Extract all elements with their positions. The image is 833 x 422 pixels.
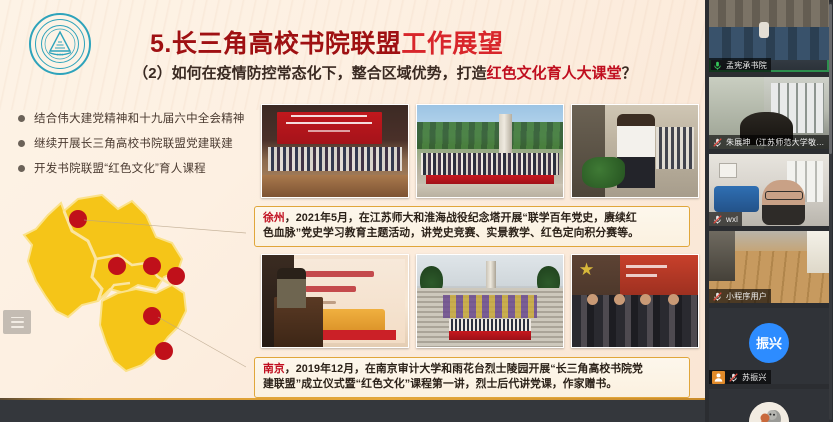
list-item: 继续开展长三角高校书院联盟党建联建 (18, 135, 258, 151)
participant-name: 孟宪承书院 (726, 60, 767, 71)
presentation-slide: 1951 5.长三角高校书院联盟工作展望 （2）如何在疫情防控常态化下，整合区域… (0, 0, 705, 400)
yangtze-river-delta-map (6, 185, 246, 385)
bullet-dot-icon (18, 115, 25, 122)
slide-menu-button[interactable] (3, 310, 31, 334)
photo-row-bottom (261, 254, 699, 348)
strip-scrollbar-thumb[interactable] (829, 4, 832, 154)
laying-flowers-photo (571, 104, 699, 198)
caption-city: 徐州 (263, 212, 285, 224)
memorial-steps-group-photo (416, 254, 564, 348)
list-item: 结合伟大建党精神和十九届六中全会精神 (18, 110, 258, 126)
university-emblem-icon: 1951 (29, 13, 91, 75)
participant-tile[interactable]: 小程序用户 (709, 231, 829, 303)
microphone-muted-icon (712, 291, 723, 302)
slide-bullet-list: 结合伟大建党精神和十九届六中全会精神 继续开展长三角高校书院联盟党建联建 开发书… (18, 110, 258, 185)
participant-namebar: 小程序用户 (709, 289, 771, 303)
shared-content-area: 1951 5.长三角高校书院联盟工作展望 （2）如何在疫情防控常态化下，整合区域… (0, 0, 705, 422)
host-icon (712, 371, 725, 384)
participant-namebar: 苏振兴 (709, 370, 771, 384)
participant-tile-host[interactable]: 振兴 苏振兴 (709, 308, 829, 384)
caption-city: 南京 (263, 363, 285, 375)
slide-title-highlight: 工作展望 (401, 30, 503, 58)
slide-subtitle-highlight: 红色文化育人大课堂 (487, 65, 622, 82)
avatar: 振兴 (749, 323, 789, 363)
slide-title: 5.长三角高校书院联盟工作展望 (150, 24, 620, 60)
bullet-label: 结合伟大建党精神和十九届六中全会精神 (34, 110, 245, 126)
avatar (749, 402, 789, 422)
bullet-dot-icon (18, 140, 25, 147)
slide-bottom-bar (0, 400, 705, 422)
slide-title-lead: 5.长三角高校书院联盟 (150, 30, 401, 58)
list-lines-icon (11, 317, 24, 328)
caption-line-1: 南京，2019年12月，在南京审计大学和雨花台烈士陵园开展“长三角高校书院党 (263, 362, 682, 377)
participant-name: 朱展坤（江苏师范大学敬文书院… (726, 137, 825, 148)
bullet-dot-icon (18, 165, 25, 172)
participant-name: 小程序用户 (726, 291, 767, 302)
participant-name: 苏振兴 (742, 372, 767, 383)
slide-subtitle-tail: ？ (622, 65, 637, 82)
map-marker (143, 257, 161, 275)
participant-tile[interactable]: 孟宪承书院 (709, 0, 829, 72)
microphone-muted-icon (712, 137, 723, 148)
map-marker (155, 342, 173, 360)
caption-text: ，2021年5月，在江苏师大和淮海战役纪念塔开展“联学百年党史，赓续红 (285, 212, 637, 224)
slide-subtitle-lead: （2）如何在疫情防控常态化下，整合区域优势，打造 (133, 65, 486, 82)
list-item: 开发书院联盟“红色文化”育人课程 (18, 160, 258, 176)
bullet-label: 继续开展长三角高校书院联盟党建联建 (34, 135, 233, 151)
participant-tile[interactable]: 朱展坤（江苏师范大学敬文书院… (709, 77, 829, 149)
caption-text: ，2019年12月，在南京审计大学和雨花台烈士陵园开展“长三角高校书院党 (285, 363, 643, 375)
microphone-on-icon (712, 60, 723, 71)
microphone-muted-icon (712, 214, 723, 225)
caption-line-2: 建联盟”成立仪式暨“红色文化”课程第一讲，烈士后代讲党课，作家赠书。 (263, 377, 682, 392)
map-marker (108, 257, 126, 275)
caption-xuzhou: 徐州，2021年5月，在江苏师大和淮海战役纪念塔开展“联学百年党史，赓续红 色血… (254, 206, 690, 247)
podium-speaker-photo (261, 254, 409, 348)
participant-namebar: wxl (709, 212, 742, 226)
caption-nanjing: 南京，2019年12月，在南京审计大学和雨花台烈士陵园开展“长三角高校书院党 建… (254, 357, 690, 398)
participant-namebar: 朱展坤（江苏师范大学敬文书院… (709, 135, 829, 149)
exhibition-viewers-photo (571, 254, 699, 348)
slide-subtitle: （2）如何在疫情防控常态化下，整合区域优势，打造红色文化育人大课堂？ (85, 62, 685, 83)
map-marker (167, 267, 185, 285)
map-marker (69, 210, 87, 228)
caption-line-1: 徐州，2021年5月，在江苏师大和淮海战役纪念塔开展“联学百年党史，赓续红 (263, 211, 682, 226)
participant-name: wxl (726, 215, 738, 224)
monument-group-photo (416, 104, 564, 198)
caption-line-2: 色血脉”党史学习教育主题活动，讲党史竞赛、实景教学、红色定向积分赛等。 (263, 226, 682, 241)
participant-tile[interactable]: wxl (709, 154, 829, 226)
bullet-label: 开发书院联盟“红色文化”育人课程 (34, 160, 206, 176)
participant-tile[interactable]: 东南大学健雄书院宋美娜 (709, 389, 829, 422)
map-marker (143, 307, 161, 325)
participant-video-strip[interactable]: 孟宪承书院 朱展坤（江苏师范大学敬文书院… wxl (705, 0, 833, 422)
stage-group-photo (261, 104, 409, 198)
photo-row-top (261, 104, 699, 198)
meeting-screen-share-window: 1951 5.长三角高校书院联盟工作展望 （2）如何在疫情防控常态化下，整合区域… (0, 0, 833, 422)
microphone-muted-icon (728, 372, 739, 383)
participant-namebar: 孟宪承书院 (709, 58, 771, 72)
